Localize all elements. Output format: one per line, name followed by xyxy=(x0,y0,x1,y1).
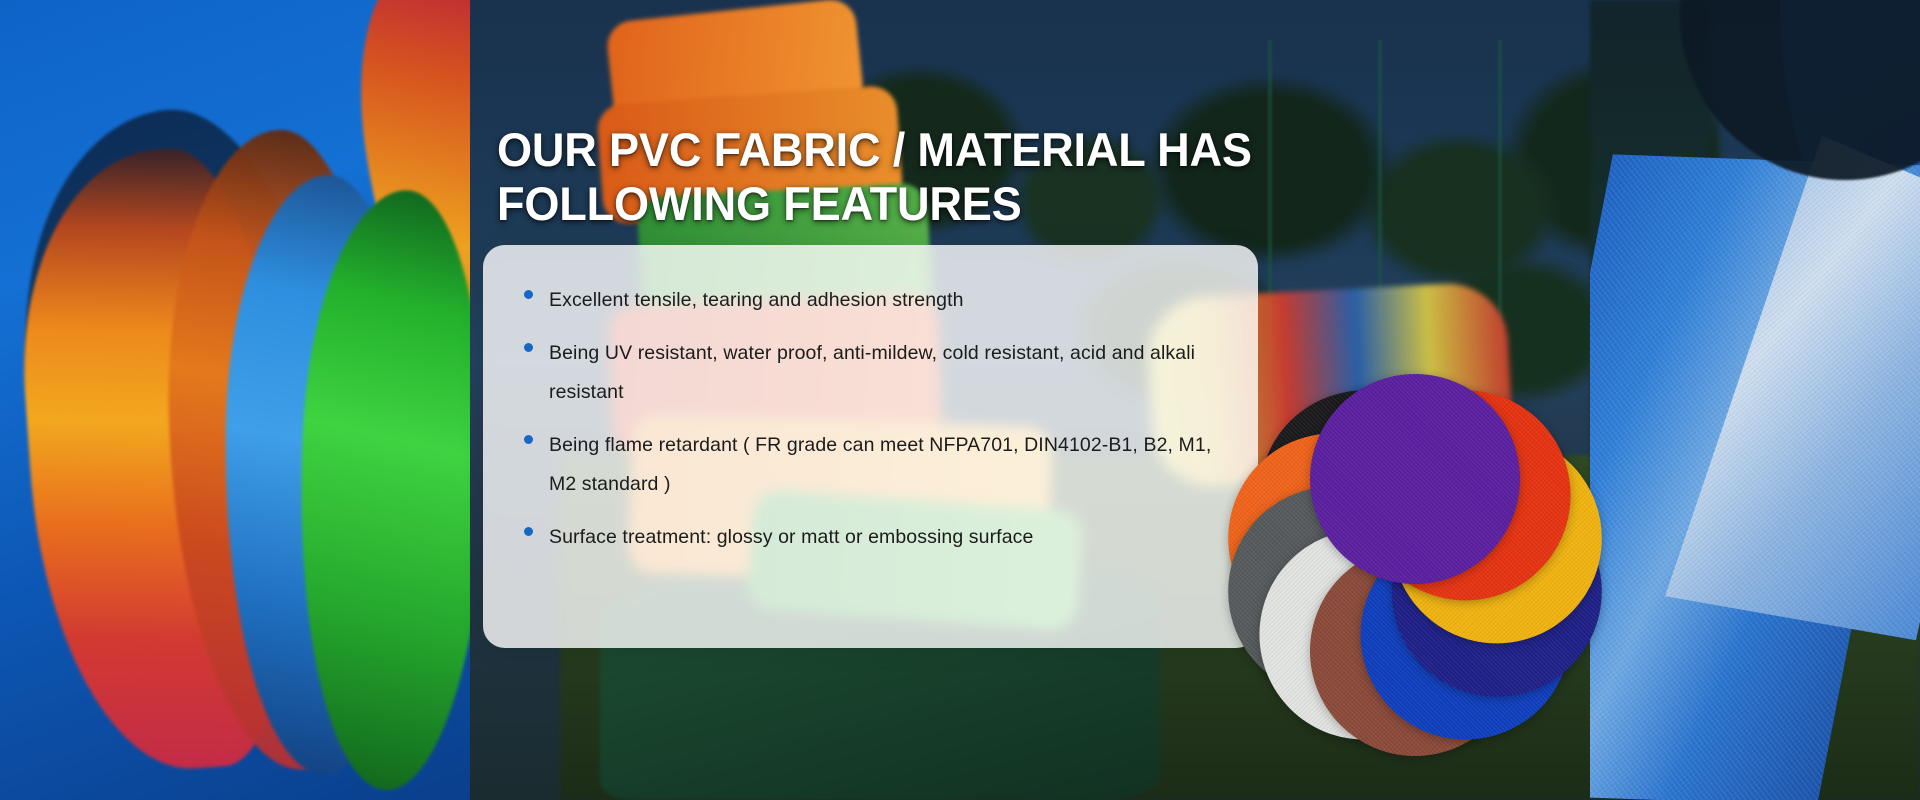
swatch-disc-purple xyxy=(1310,374,1520,584)
bullet-dot-icon xyxy=(524,435,533,444)
list-item: Being flame retardant ( FR grade can mee… xyxy=(524,426,1228,504)
feature-text: Being flame retardant ( FR grade can mee… xyxy=(549,426,1228,504)
list-item: Excellent tensile, tearing and adhesion … xyxy=(524,281,1228,320)
features-list: Excellent tensile, tearing and adhesion … xyxy=(524,281,1228,557)
pvc-features-banner: OUR PVC FABRIC / MATERIAL HAS FOLLOWING … xyxy=(0,0,1920,800)
list-item: Being UV resistant, water proof, anti-mi… xyxy=(524,334,1228,412)
curved-pvc-sheets-left xyxy=(0,0,470,800)
list-item: Surface treatment: glossy or matt or emb… xyxy=(524,518,1228,557)
pvc-color-swatch-wheel xyxy=(1205,355,1625,775)
feature-text: Surface treatment: glossy or matt or emb… xyxy=(549,518,1033,557)
bullet-dot-icon xyxy=(524,527,533,536)
features-card: Excellent tensile, tearing and adhesion … xyxy=(483,245,1258,648)
bullet-dot-icon xyxy=(524,343,533,352)
page-title: OUR PVC FABRIC / MATERIAL HAS FOLLOWING … xyxy=(497,123,1361,231)
feature-text: Excellent tensile, tearing and adhesion … xyxy=(549,281,964,320)
feature-text: Being UV resistant, water proof, anti-mi… xyxy=(549,334,1228,412)
bullet-dot-icon xyxy=(524,290,533,299)
